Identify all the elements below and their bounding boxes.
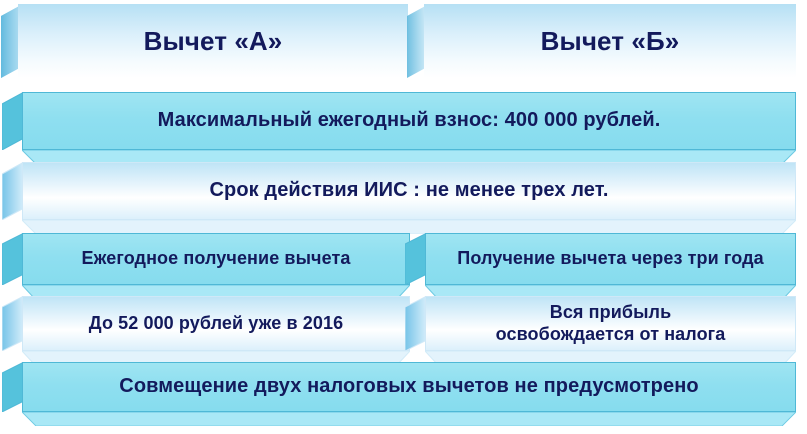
row-amount-left-face: До 52 000 рублей уже в 2016 bbox=[22, 296, 410, 351]
row-max-contribution-face: Максимальный ежегодный взнос: 400 000 ру… bbox=[22, 92, 796, 150]
bevel-left-row1 bbox=[2, 92, 24, 150]
bevel-left-row3-left bbox=[2, 233, 24, 285]
row-receipt-left-label: Ежегодное получение вычета bbox=[68, 248, 365, 269]
bevel-left-row2 bbox=[2, 162, 24, 220]
header-right-label: Вычет «Б» bbox=[527, 26, 694, 57]
row-max-contribution-label: Максимальный ежегодный взнос: 400 000 ру… bbox=[144, 109, 675, 133]
header-right-face: Вычет «Б» bbox=[424, 4, 796, 78]
bevel-left-row4-right bbox=[405, 296, 427, 351]
row-amount-left: До 52 000 рублей уже в 2016 bbox=[22, 296, 410, 351]
bevel-left-row4-left bbox=[2, 296, 24, 351]
row-term-face: Срок действия ИИС : не менее трех лет. bbox=[22, 162, 796, 220]
bevel-bottom-row2 bbox=[22, 220, 796, 234]
bevel-left-row5 bbox=[2, 362, 24, 412]
header-box-right: Вычет «Б» bbox=[424, 4, 796, 78]
row-receipt-right-face: Получение вычета через три года bbox=[425, 233, 796, 285]
bevel-bottom-row5 bbox=[22, 412, 796, 426]
header-left-label: Вычет «А» bbox=[130, 26, 297, 57]
header-box-left: Вычет «А» bbox=[18, 4, 408, 78]
row-amount-right-line2: освобождается от налога bbox=[496, 324, 726, 345]
row-term: Срок действия ИИС : не менее трех лет. bbox=[22, 162, 796, 220]
row-amount-right-label-group: Вся прибыль освобождается от налога bbox=[482, 302, 740, 344]
row-max-contribution: Максимальный ежегодный взнос: 400 000 ру… bbox=[22, 92, 796, 150]
row-receipt-right: Получение вычета через три года bbox=[425, 233, 796, 285]
bevel-left-row3-right bbox=[405, 233, 427, 285]
row-amount-left-label: До 52 000 рублей уже в 2016 bbox=[75, 313, 357, 334]
row-term-label: Срок действия ИИС : не менее трех лет. bbox=[195, 179, 622, 203]
row-combination: Совмещение двух налоговых вычетов не пре… bbox=[22, 362, 796, 412]
row-receipt-right-label: Получение вычета через три года bbox=[443, 248, 777, 269]
row-receipt-left: Ежегодное получение вычета bbox=[22, 233, 410, 285]
header-left-face: Вычет «А» bbox=[18, 4, 408, 78]
row-receipt-left-face: Ежегодное получение вычета bbox=[22, 233, 410, 285]
row-combination-face: Совмещение двух налоговых вычетов не пре… bbox=[22, 362, 796, 412]
row-amount-right-line1: Вся прибыль bbox=[496, 302, 726, 323]
row-combination-label: Совмещение двух налоговых вычетов не пре… bbox=[105, 375, 712, 399]
row-amount-right: Вся прибыль освобождается от налога bbox=[425, 296, 796, 351]
row-amount-right-face: Вся прибыль освобождается от налога bbox=[425, 296, 796, 351]
smartart-diagram: Вычет «А» Вычет «Б» bbox=[0, 0, 807, 434]
